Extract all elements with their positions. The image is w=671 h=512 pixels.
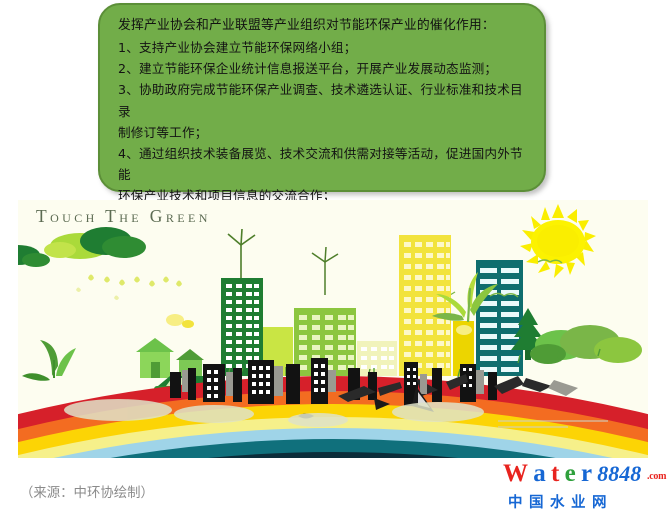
green-earth-illustration — [18, 200, 648, 458]
illustration-caption: Touch The Green — [36, 206, 211, 227]
logo-tld: .com — [647, 464, 666, 489]
source-note: （来源：中环协绘制） — [20, 481, 154, 501]
logo-wordmark: W a t e r 8848 .com — [503, 461, 653, 489]
logo-subtitle: 中国水业网 — [503, 491, 653, 512]
illustration-artwork — [18, 200, 648, 458]
logo-letter-t: t — [551, 461, 559, 486]
logo-letter-e: e — [565, 461, 576, 486]
callout-heading: 发挥产业协会和产业联盟等产业组织对节能环保产业的催化作用： — [118, 15, 528, 37]
logo-digits: 8848 — [597, 461, 641, 486]
logo-letter-a: a — [533, 461, 545, 486]
water8848-logo[interactable]: W a t e r 8848 .com 中国水业网 — [503, 461, 653, 507]
logo-letter-r: r — [581, 461, 592, 486]
policy-callout-box: 发挥产业协会和产业联盟等产业组织对节能环保产业的催化作用： 1、支持产业协会建立… — [98, 3, 546, 192]
logo-letter-w: W — [503, 461, 528, 486]
